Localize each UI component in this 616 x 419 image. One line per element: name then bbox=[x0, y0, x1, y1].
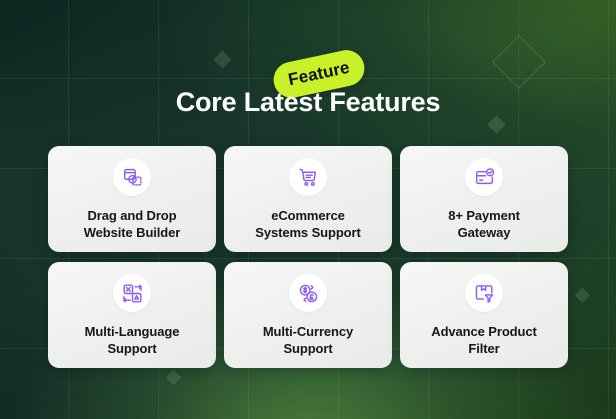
page-title: Core Latest Features bbox=[0, 86, 616, 118]
feature-card-title: Drag and Drop Website Builder bbox=[84, 207, 181, 241]
feature-card-ecommerce[interactable]: eCommerce Systems Support bbox=[224, 146, 392, 252]
product-filter-icon bbox=[474, 283, 495, 304]
payment-card-check-icon bbox=[474, 167, 495, 188]
translate-language-icon bbox=[122, 283, 143, 304]
icon-badge bbox=[465, 274, 503, 312]
feature-section: Feature Core Latest Features Drag and Dr… bbox=[0, 0, 616, 419]
feature-card-title: Advance Product Filter bbox=[431, 323, 536, 357]
feature-card-product-filter[interactable]: Advance Product Filter bbox=[400, 262, 568, 368]
shopping-cart-icon bbox=[298, 167, 319, 188]
feature-card-title: eCommerce Systems Support bbox=[255, 207, 360, 241]
icon-badge bbox=[113, 158, 151, 196]
feature-card-grid: Drag and Drop Website Builder eCommerce … bbox=[48, 146, 568, 368]
feature-card-payment-gateway[interactable]: 8+ Payment Gateway bbox=[400, 146, 568, 252]
feature-card-drag-and-drop[interactable]: Drag and Drop Website Builder bbox=[48, 146, 216, 252]
heading-container: Core Latest Features bbox=[0, 86, 616, 118]
icon-badge bbox=[113, 274, 151, 312]
feature-card-title: Multi-Currency Support bbox=[263, 323, 353, 357]
feature-card-title: 8+ Payment Gateway bbox=[448, 207, 520, 241]
icon-badge bbox=[289, 274, 327, 312]
icon-badge bbox=[289, 158, 327, 196]
feature-card-multi-currency[interactable]: Multi-Currency Support bbox=[224, 262, 392, 368]
feature-card-title: Multi-Language Support bbox=[85, 323, 180, 357]
drag-and-drop-icon bbox=[122, 167, 143, 188]
icon-badge bbox=[465, 158, 503, 196]
feature-card-multi-language[interactable]: Multi-Language Support bbox=[48, 262, 216, 368]
currency-exchange-icon bbox=[298, 283, 319, 304]
